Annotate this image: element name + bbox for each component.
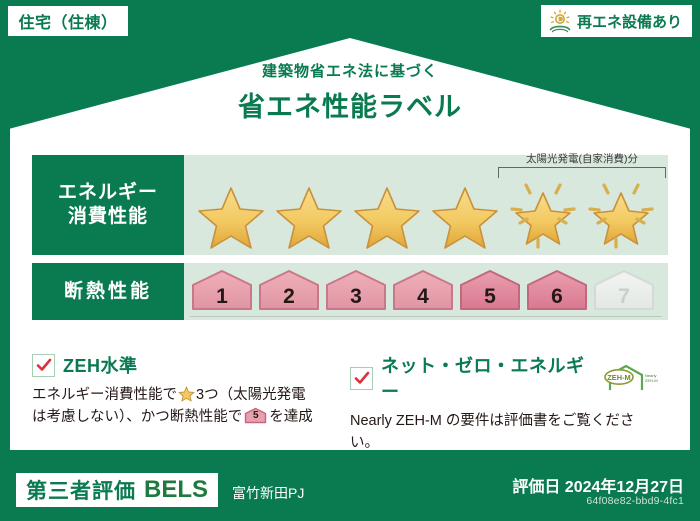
insulation-level-6: 6 [525,268,589,312]
zeh-standard-claim: ZEH水準 エネルギー消費性能で 3つ（太陽光発電 は考慮しない）、かつ断熱性能… [32,352,350,444]
solar-sun-icon [547,8,573,34]
building-type-tag-label: 住宅（住棟） [18,9,117,33]
zeh-desc-stars: 3つ（太陽光発電 [196,387,306,403]
evaluation-uid: 64f08e82-bbd9-4fc1 [586,495,684,507]
insulation-level-value: 2 [283,285,295,312]
energy-performance-label: エネルギー 消費性能 [32,155,184,255]
checkbox-checked [32,354,55,377]
bels-en-label: BELS [144,476,208,504]
insulation-level-value: 6 [551,285,563,312]
bels-jp-label: 第三者評価 [26,475,136,505]
insulation-level-value: 3 [350,285,362,312]
insulation-level-value: 4 [417,285,429,312]
svg-text:ZEH-M: ZEH-M [607,373,630,382]
inline-house-value: 5 [244,407,267,424]
solar-generation-annotation: 太陽光発電(自家消費)分 [498,151,666,178]
check-icon [36,357,52,373]
star-icon [178,386,195,402]
checkbox-checked [350,367,373,390]
check-icon [354,370,370,386]
star-1 [192,173,270,253]
net-zero-energy-title: ネット・ゼロ・エネルギー [381,352,590,404]
insulation-level-scale: 1 2 3 4 [190,268,656,312]
solar-annotation-text: 太陽光発電(自家消費)分 [498,151,666,166]
star-3 [348,173,426,253]
star-icon [509,185,577,251]
insulation-levels-area: 1 2 3 4 [184,263,668,320]
star-icon [353,185,421,251]
insulation-performance-row: 断熱性能 1 [32,263,668,320]
insulation-level-2: 2 [257,268,321,312]
insulation-level-5: 5 [458,268,522,312]
energy-label-card: 住宅（住棟） 再エネ設備あり 建築物省エネ法に基づく 省エネ性能ラベル [0,0,700,521]
zeh-desc-part1: エネルギー消費性能で [32,387,177,403]
net-zero-energy-claim: ネット・ゼロ・エネルギー ZEH-M Nearly ZEH-M Nearly Z… [350,352,668,444]
star-rating [192,167,662,253]
renewable-equipment-badge: 再エネ設備あり [541,5,692,37]
energy-label-line2: 消費性能 [68,205,148,229]
insulation-level-1: 1 [190,268,254,312]
bels-certification-box: 第三者評価 BELS [16,473,218,507]
star-icon [275,185,343,251]
star-icon [197,185,265,251]
label-main-title: 省エネ性能ラベル [0,85,700,124]
svg-text:ZEH-M: ZEH-M [645,378,658,383]
insulation-level-value: 5 [484,285,496,312]
footer-bar: 第三者評価 BELS 富竹新田PJ 評価日 2024年12月27日 64f08e… [0,459,700,521]
energy-label-line1: エネルギー [58,181,158,205]
inline-star-icon [178,386,195,402]
insulation-level-3: 3 [324,268,388,312]
insulation-label-text: 断熱性能 [64,280,152,304]
star-6-solar [582,173,660,253]
zeh-standard-description: エネルギー消費性能で 3つ（太陽光発電 は考慮しない）、かつ断熱性能で 5を達成 [32,385,340,429]
label-subtitle: 建築物省エネ法に基づく [0,60,700,81]
net-zero-energy-description: Nearly ZEH-M の要件は評価書をご覧ください。 [350,411,658,455]
inline-house-badge: 5 [244,407,267,424]
star-icon [431,185,499,251]
zeh-desc-part3: を達成 [269,409,313,425]
zeh-m-logo: ZEH-M Nearly ZEH-M [602,363,658,393]
insulation-level-4: 4 [391,268,455,312]
zeh-m-logo-icon: ZEH-M Nearly ZEH-M [602,363,658,393]
project-name: 富竹新田PJ [232,483,304,503]
star-icon [587,185,655,251]
solar-annotation-bracket [498,167,666,178]
energy-performance-row: エネルギー 消費性能 太陽光発電(自家消費)分 [32,155,668,255]
star-5-solar [504,173,582,253]
renewable-badge-label: 再エネ設備あり [577,11,682,32]
net-zero-energy-header: ネット・ゼロ・エネルギー ZEH-M Nearly ZEH-M [350,352,658,404]
insulation-baseline [190,316,662,317]
insulation-level-value: 7 [618,285,630,312]
zeh-standard-header: ZEH水準 [32,352,340,378]
star-4 [426,173,504,253]
insulation-performance-label: 断熱性能 [32,263,184,320]
zeh-desc-part2: は考慮しない）、かつ断熱性能で [32,409,242,425]
building-type-tag: 住宅（住棟） [8,6,128,36]
zeh-standard-title: ZEH水準 [63,352,138,378]
energy-stars-area: 太陽光発電(自家消費)分 [184,155,668,255]
insulation-level-7: 7 [592,268,656,312]
claims-section: ZEH水準 エネルギー消費性能で 3つ（太陽光発電 は考慮しない）、かつ断熱性能… [32,352,668,444]
evaluation-date: 評価日 2024年12月27日 [512,473,684,497]
insulation-level-value: 1 [216,285,228,312]
star-2 [270,173,348,253]
label-title-block: 建築物省エネ法に基づく 省エネ性能ラベル [0,60,700,124]
